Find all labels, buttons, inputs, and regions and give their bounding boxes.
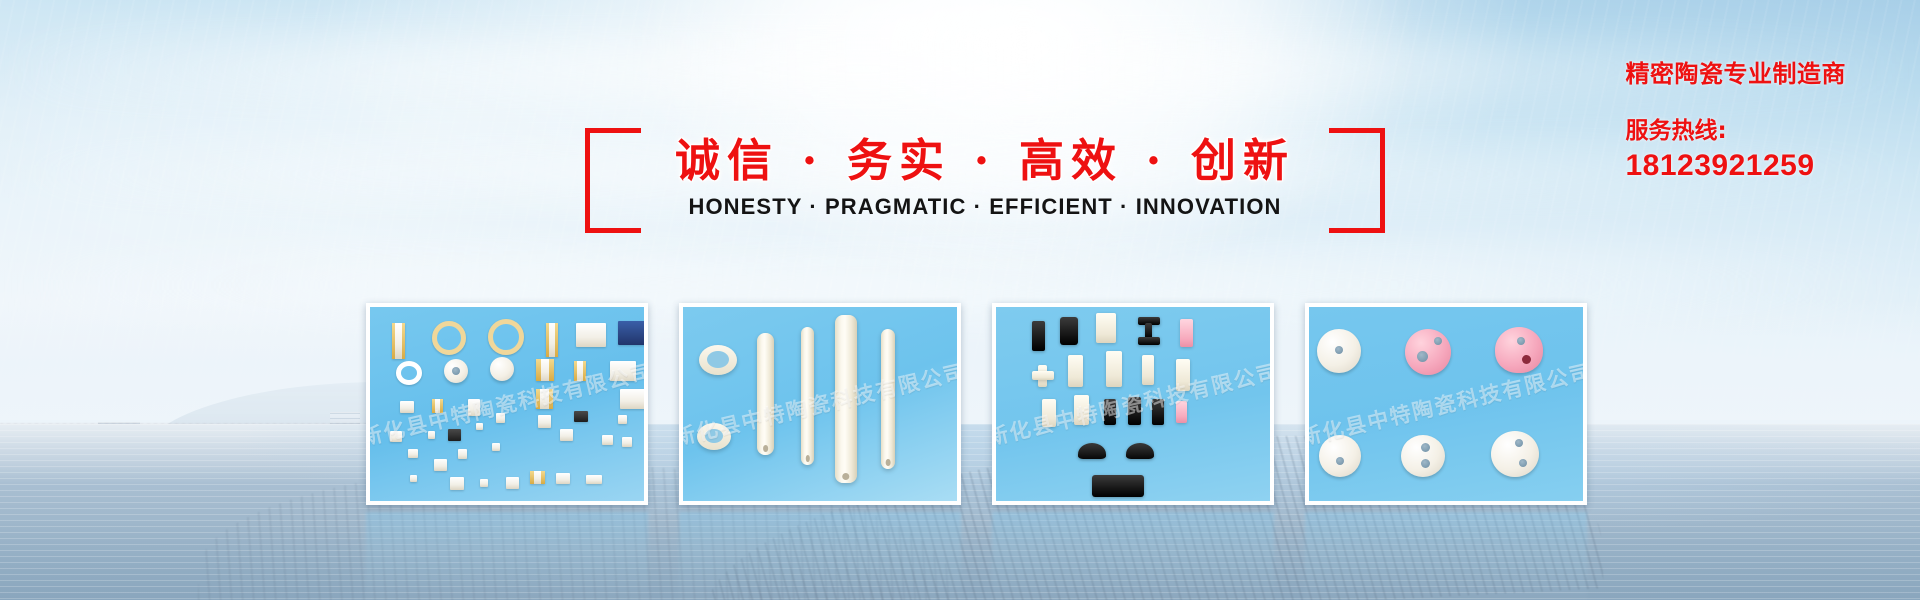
company-tagline: 精密陶瓷专业制造商 [1626,54,1847,89]
slogan-chinese: 诚信 · 务实 · 高效 · 创新 [585,124,1385,189]
panel-image-tubes: 新化县中特陶瓷科技有限公司 [683,307,957,501]
product-panel-ceramic-blocks[interactable]: 新化县中特陶瓷科技有限公司 [992,303,1274,505]
product-panel-row: 新化县中特陶瓷科技有限公司 新化县中特陶瓷科技有限公司 [366,303,1596,505]
product-panel-ceramic-discs[interactable]: 新化县中特陶瓷科技有限公司 [1305,303,1587,505]
hotline-phone[interactable]: 18123921259 [1626,149,1847,183]
product-panel-ceramic-tubes[interactable]: 新化县中特陶瓷科技有限公司 [679,303,961,505]
hotline-label: 服务热线: [1626,111,1847,145]
panel-image-discs: 新化县中特陶瓷科技有限公司 [1309,307,1583,501]
slogan-block: 诚信 · 务实 · 高效 · 创新 HONESTY · PRAGMATIC · … [585,128,1385,238]
panel-image-blocks: 新化县中特陶瓷科技有限公司 [996,307,1270,501]
hero-banner: 诚信 · 务实 · 高效 · 创新 HONESTY · PRAGMATIC · … [0,0,1920,600]
product-panel-smd-components[interactable]: 新化县中特陶瓷科技有限公司 [366,303,648,505]
contact-block: 精密陶瓷专业制造商 服务热线: 18123921259 [1626,54,1847,183]
slogan-english: HONESTY · PRAGMATIC · EFFICIENT · INNOVA… [585,194,1385,220]
panel-image-smd: 新化县中特陶瓷科技有限公司 [370,307,644,501]
